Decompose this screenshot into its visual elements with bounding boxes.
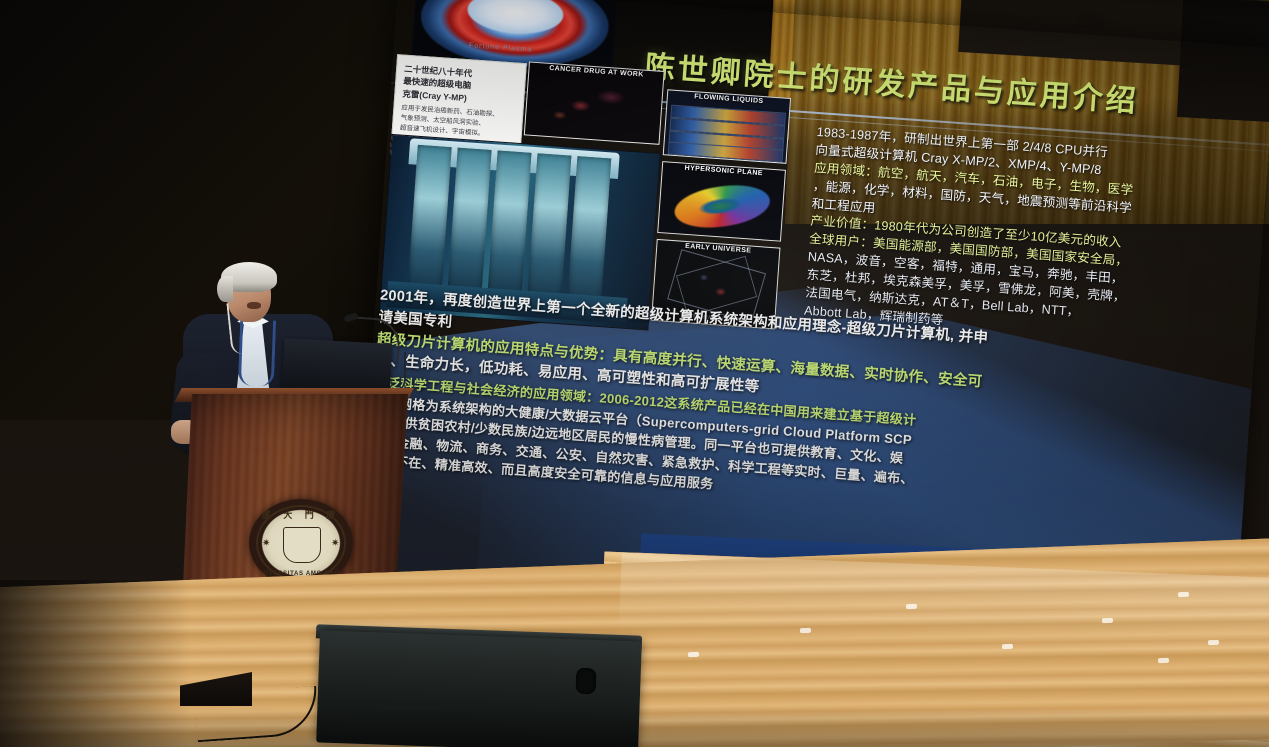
cancer-drug-caption: CANCER DRUG AT WORK	[529, 64, 663, 80]
flowing-liquids-image: FLOWING LIQUIDS	[663, 89, 791, 164]
floor-highlight	[1178, 592, 1189, 597]
seal-shield-icon	[283, 527, 321, 563]
flowing-liquids-caption: FLOWING LIQUIDS	[668, 91, 790, 107]
cray-body: 应用于发民治癌新药、石油勘探、 气象预测、太空船风洞实验、 超音速飞机设计、宇宙…	[400, 104, 499, 140]
seal-star-icon: ✷	[262, 539, 271, 548]
hypersonic-plane-image: HYPERSONIC PLANE	[657, 161, 786, 242]
cray-panel	[527, 153, 572, 305]
monitor-case-handle	[576, 668, 597, 695]
speaker-hair-side	[217, 276, 233, 302]
floor-highlight	[906, 604, 917, 609]
early-universe-caption: EARLY UNIVERSE	[657, 241, 779, 257]
floor-highlight	[1002, 644, 1013, 649]
floor-highlight	[800, 628, 811, 633]
cray-heading: 二十世纪八十年代 最快速的超级电脑 克雷(Cray Y-MP)	[402, 63, 472, 105]
seal-star-icon: ✷	[331, 539, 340, 548]
cray-panel	[487, 150, 532, 302]
ceiling-fixture	[1078, 6, 1104, 28]
cancer-drug-image: CANCER DRUG AT WORK	[524, 61, 665, 144]
screenshot-root: 陈世卿院士的研发产品与应用介绍 Fortune Plasma 二十世纪八十年代 …	[0, 0, 1269, 747]
floor-highlight	[688, 652, 699, 657]
cray-panel	[447, 148, 492, 300]
cray-panel	[567, 156, 612, 308]
floor-highlight	[1208, 640, 1219, 645]
floor-highlight	[1102, 618, 1113, 623]
cray-panel	[407, 145, 452, 297]
floor-highlight	[1158, 658, 1169, 663]
hypersonic-plane-caption: HYPERSONIC PLANE	[663, 163, 785, 179]
slide-right-text-column: 1983-1987年，研制出世界上第一部 2/4/8 CPU并行 向量式超级计算…	[803, 124, 1266, 352]
seal-top-text: 厦 大 門 廈	[249, 508, 353, 521]
